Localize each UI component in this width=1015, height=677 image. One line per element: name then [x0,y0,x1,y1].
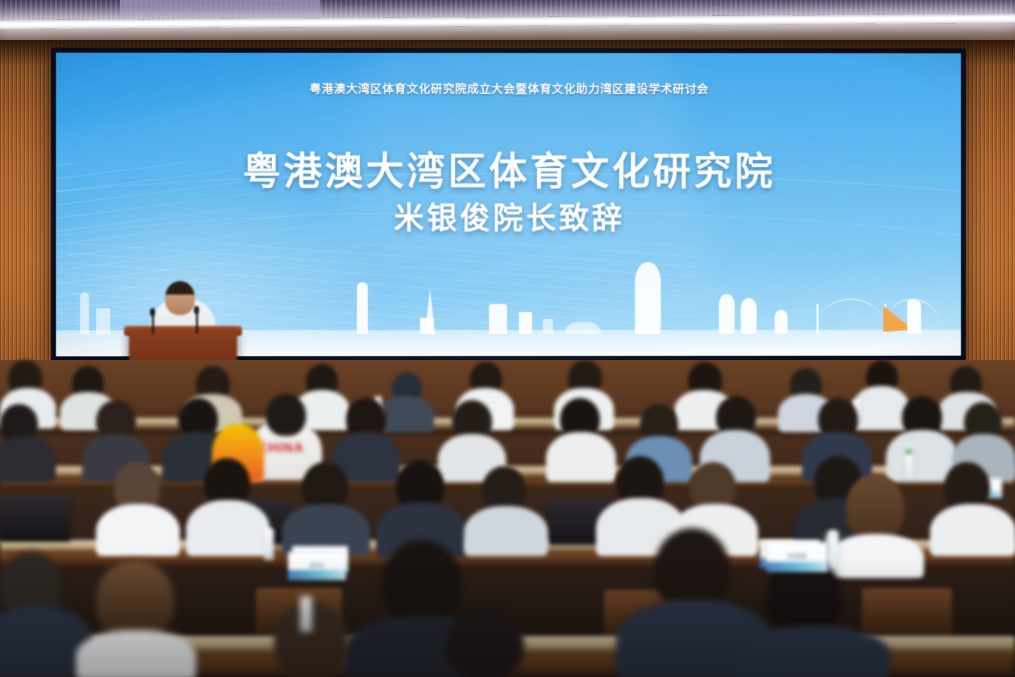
audience-person [828,534,924,578]
audience-head [266,394,306,436]
chair [0,496,70,540]
ceiling-vent-left [120,0,320,17]
audience-head-curly [96,560,174,640]
placard-text: 秘书长 [310,563,324,569]
water-bottle [905,452,913,480]
audience-person [186,500,270,556]
audience-person [0,436,56,482]
audience-person [734,626,890,677]
audience-person [96,504,180,556]
audience-head [446,608,524,677]
audience-head-woman [846,474,904,540]
speaker-head [165,281,195,315]
microphone-left [152,314,154,334]
water-bottle [264,528,274,560]
audience-person [930,504,1015,556]
name-placard: 秘书长 [288,552,346,580]
microphone-right-head [194,306,199,314]
water-bottle-cap [906,450,912,454]
conference-hall-photo: 粤港澳大湾区体育文化研究院成立大会暨体育文化助力湾区建设学术研讨会 粤港澳大湾区… [0,0,1015,677]
audience-person [852,386,910,430]
audience-person [76,630,196,677]
china-shirt-text: CHINA [258,440,316,454]
audience-person [464,506,548,556]
water-bottle [300,596,312,632]
microphone-left-head [150,308,155,316]
placard-text: 常务理事 [788,554,807,560]
audience-person [378,396,434,432]
microphone-right [196,312,198,334]
chair-wood [862,588,952,638]
audience-person [546,432,616,482]
name-placard: 常务理事 [766,542,828,572]
audience-head [382,540,462,628]
